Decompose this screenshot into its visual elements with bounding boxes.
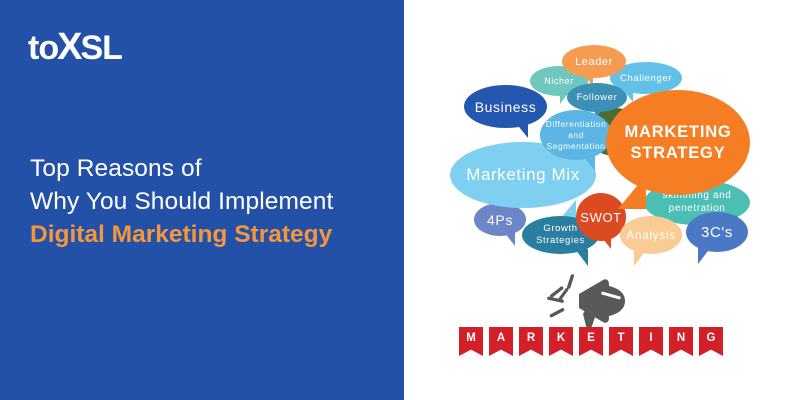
- headline-block: Top Reasons of Why You Should Implement …: [30, 152, 390, 252]
- logo-prefix: to: [28, 31, 58, 65]
- bubble-label: Differentiation and Segmentation: [540, 119, 612, 152]
- right-illustration-panel: Nicher Leader Challenger Follower Busine…: [404, 0, 800, 400]
- banner-flag: A: [489, 327, 513, 356]
- banner-flag: N: [669, 327, 693, 356]
- bubble-label: skimming and penetration: [644, 190, 750, 215]
- headline-line-3-accent: Digital Marketing Strategy: [30, 218, 390, 252]
- bubble-follower[interactable]: Follower: [567, 83, 627, 112]
- bubble-tail: [618, 175, 646, 209]
- logo-suffix: SL: [80, 31, 121, 65]
- bubble-tail: [504, 232, 515, 246]
- bubble-tail: [600, 235, 611, 249]
- bubble-leader[interactable]: Leader: [562, 45, 626, 78]
- bubble-label: Marketing Mix: [450, 165, 596, 185]
- promotional-banner: toXSL Top Reasons of Why You Should Impl…: [0, 0, 800, 400]
- bubble-tail: [698, 247, 711, 264]
- bubble-label: 4Ps: [474, 212, 526, 228]
- bubble-3cs[interactable]: 3C's: [686, 212, 748, 252]
- megaphone-icon: [539, 272, 649, 332]
- bubble-label: Follower: [567, 92, 627, 103]
- bubble-marketing-strategy-main[interactable]: MARKETINGSTRATEGY: [606, 90, 750, 195]
- marketing-letter-banner: M A R K E T I N G: [459, 327, 723, 356]
- toxsl-logo[interactable]: toXSL: [28, 28, 122, 66]
- bubble-label: 3C's: [686, 224, 748, 241]
- banner-flag: T: [609, 327, 633, 356]
- bubble-analysis[interactable]: Analysis: [620, 216, 682, 254]
- bubble-tail: [582, 155, 595, 171]
- bubble-tail: [575, 249, 588, 266]
- main-bubble-line-1: MARKETING: [624, 123, 731, 141]
- banner-flag: E: [579, 327, 603, 356]
- main-bubble-line-2: STRATEGY: [630, 144, 725, 162]
- banner-flag: M: [459, 327, 483, 356]
- bubble-tail: [634, 249, 647, 266]
- banner-flag: K: [549, 327, 573, 356]
- bubble-label: Analysis: [620, 228, 682, 242]
- logo-x-mark: X: [57, 28, 81, 66]
- headline-line-2: Why You Should Implement: [30, 185, 390, 218]
- headline-line-1: Top Reasons of: [30, 152, 390, 185]
- banner-flag: G: [699, 327, 723, 356]
- left-blue-panel: toXSL Top Reasons of Why You Should Impl…: [0, 0, 404, 400]
- banner-flag: R: [519, 327, 543, 356]
- bubble-label: Leader: [562, 56, 626, 68]
- bubble-label: Business: [464, 99, 547, 115]
- main-bubble-label: MARKETINGSTRATEGY: [606, 122, 750, 164]
- bubble-label: SWOT: [576, 210, 626, 225]
- bubble-business[interactable]: Business: [464, 85, 547, 128]
- bubble-differentiation-segmentation[interactable]: Differentiation and Segmentation: [540, 110, 612, 160]
- bubble-tail: [515, 122, 528, 138]
- bubble-label: Challenger: [610, 73, 682, 84]
- banner-flag: I: [639, 327, 663, 356]
